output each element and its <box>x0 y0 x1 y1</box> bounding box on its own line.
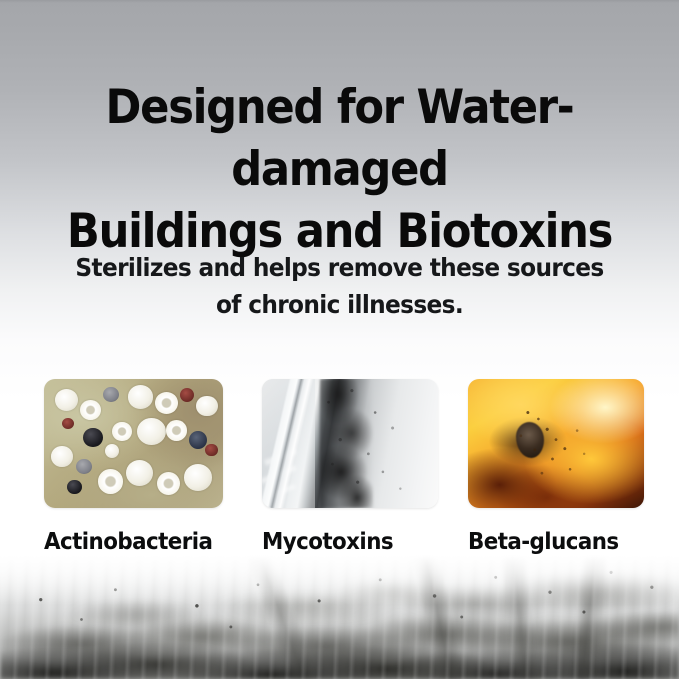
colony-dot <box>51 446 72 467</box>
source-card-list: Actinobacteria Mycotoxins Beta-g <box>44 379 644 559</box>
colony-dot <box>67 480 81 494</box>
page-subtitle: Sterilizes and helps remove these source… <box>24 249 655 323</box>
source-card-actinobacteria: Actinobacteria <box>44 379 223 555</box>
colony-dot <box>137 418 166 445</box>
colony-dot <box>55 389 78 411</box>
spore-dust-specks <box>468 379 644 508</box>
colony-dot <box>105 444 119 458</box>
colony-dot <box>157 472 180 495</box>
colony-dot <box>180 388 194 402</box>
colony-dot <box>128 385 153 408</box>
grunge-top-fade <box>0 555 679 679</box>
petri-dish-bacterial-colonies-photo <box>44 379 223 508</box>
colony-dot <box>83 428 103 447</box>
colony-dot <box>98 469 123 494</box>
colony-dot <box>155 392 178 414</box>
colony-dot <box>166 420 187 441</box>
window-frame <box>262 379 336 508</box>
black-mould-window-frame-photo <box>262 379 438 508</box>
colony-dot <box>103 387 119 402</box>
water-damaged-mouldy-wall-texture <box>0 555 679 679</box>
colony-dot <box>205 444 218 457</box>
source-card-label: Beta-glucans <box>468 529 634 555</box>
fungal-spore-cloud-microscopy-photo <box>468 379 644 508</box>
source-card-beta-glucans: Beta-glucans <box>468 379 647 555</box>
colony-dot <box>126 460 153 486</box>
poster-root: Designed for Water-damaged Buildings and… <box>0 0 679 679</box>
colony-dot <box>196 396 217 417</box>
colony-dot <box>189 431 207 449</box>
source-card-mycotoxins: Mycotoxins <box>262 379 441 555</box>
colony-dot <box>76 459 92 474</box>
colony-dot <box>80 400 101 421</box>
colony-dot <box>184 464 213 491</box>
colony-dot <box>62 418 75 430</box>
page-title: Designed for Water-damaged Buildings and… <box>27 77 652 263</box>
source-card-label: Mycotoxins <box>262 529 428 555</box>
colony-dot <box>112 422 132 441</box>
source-card-label: Actinobacteria <box>44 529 210 555</box>
